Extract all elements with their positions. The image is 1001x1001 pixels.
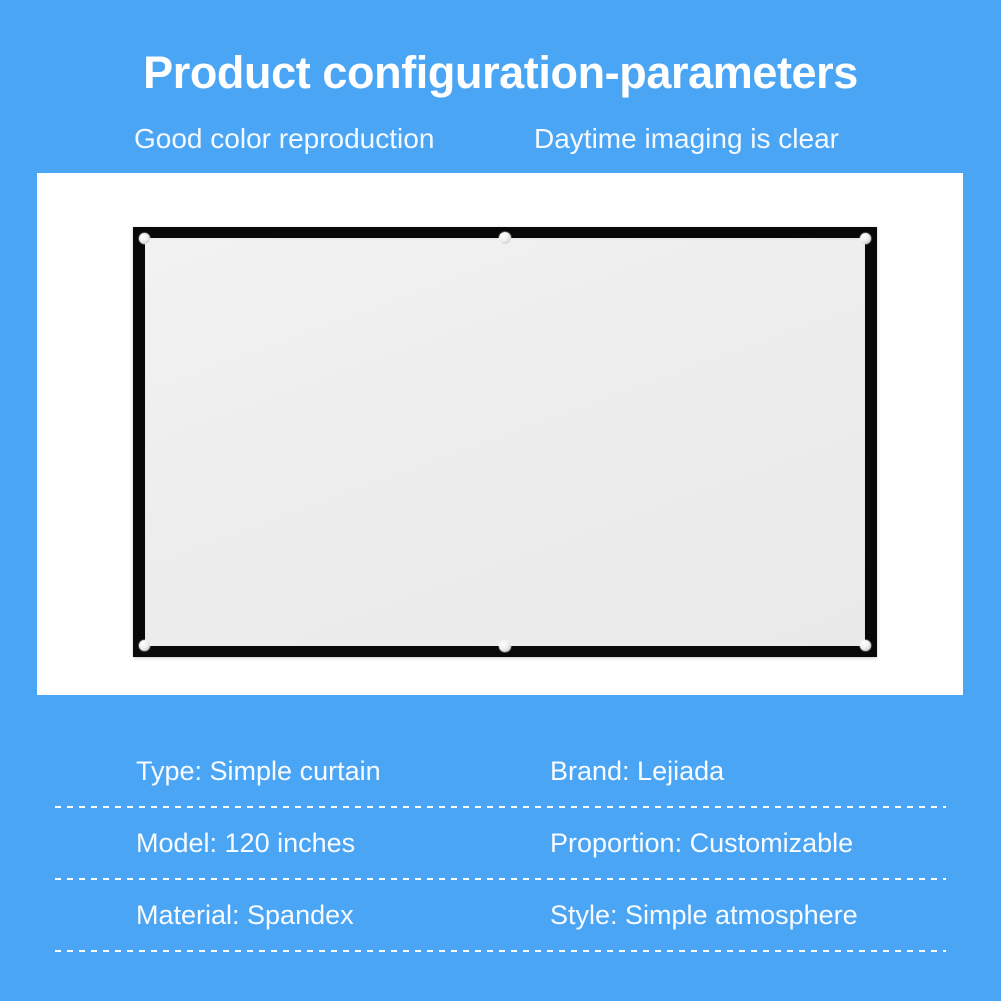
spec-type: Type: Simple curtain <box>136 735 381 807</box>
subtitle-daytime-imaging: Daytime imaging is clear <box>534 118 839 160</box>
product-image-card <box>37 173 963 695</box>
spec-row: Model: 120 inches Proportion: Customizab… <box>0 807 1001 879</box>
spec-proportion: Proportion: Customizable <box>550 807 853 879</box>
projector-screen-image <box>133 227 877 657</box>
specification-table: Type: Simple curtain Brand: Lejiada Mode… <box>0 735 1001 807</box>
grommet-top-right-icon <box>860 233 871 244</box>
spec-material: Material: Spandex <box>136 879 354 951</box>
subtitle-good-color-reproduction: Good color reproduction <box>134 118 434 160</box>
grommet-bottom-center-icon <box>499 640 511 652</box>
grommet-bottom-left-icon <box>139 640 150 651</box>
spec-brand: Brand: Lejiada <box>550 735 724 807</box>
grommet-top-left-icon <box>139 233 150 244</box>
spec-row: Type: Simple curtain Brand: Lejiada <box>0 735 1001 807</box>
spec-model: Model: 120 inches <box>136 807 355 879</box>
page-title: Product configuration-parameters <box>0 44 1001 102</box>
spec-row: Material: Spandex Style: Simple atmosphe… <box>0 879 1001 951</box>
projector-screen-surface <box>145 238 865 646</box>
product-parameters-page: Product configuration-parameters Good co… <box>0 0 1001 1001</box>
spec-style: Style: Simple atmosphere <box>550 879 858 951</box>
spec-divider-3 <box>55 950 946 952</box>
grommet-top-center-icon <box>499 232 511 244</box>
grommet-bottom-right-icon <box>860 640 871 651</box>
subtitle-row: Good color reproduction Daytime imaging … <box>0 118 1001 160</box>
